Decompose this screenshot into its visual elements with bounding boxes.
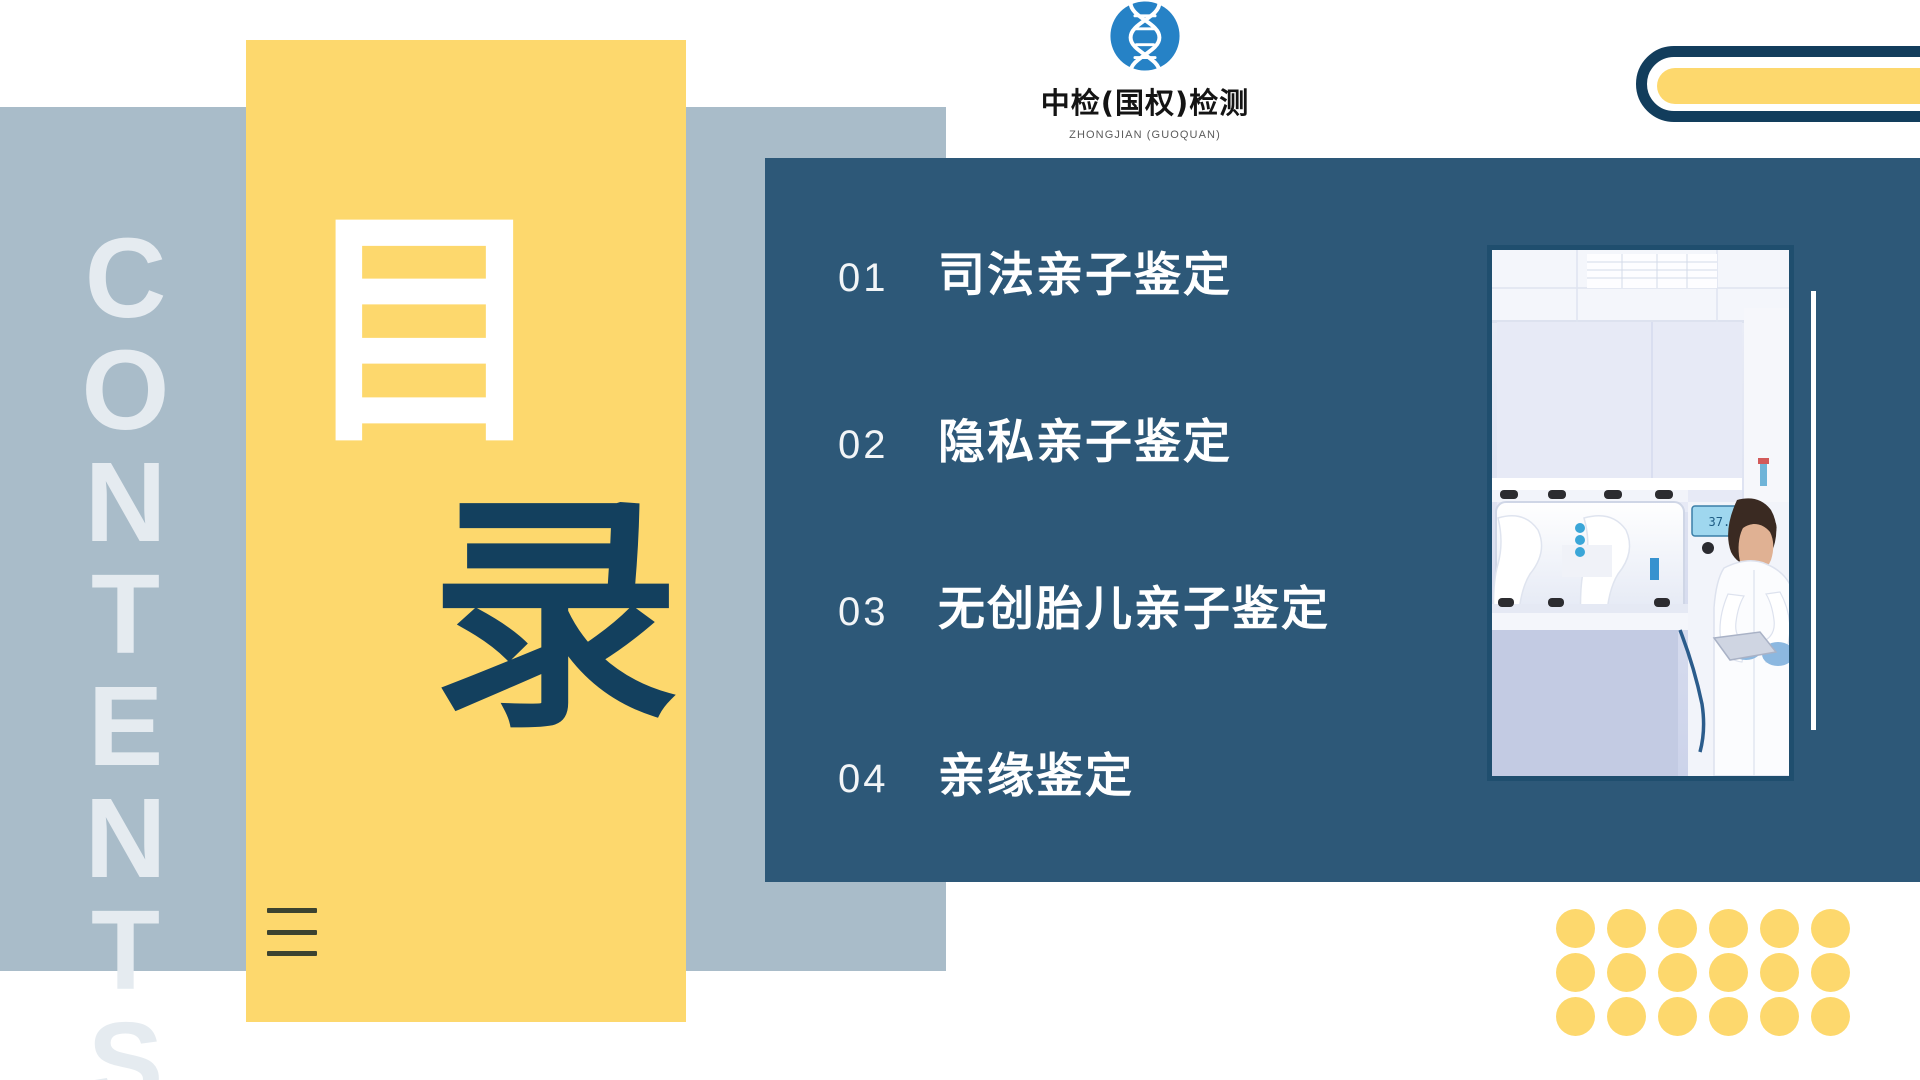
logo-company-pinyin: ZHONGJIAN (GUOQUAN) xyxy=(1069,129,1221,141)
hamburger-bar-3 xyxy=(267,951,317,956)
dot xyxy=(1658,909,1697,948)
toc-label: 隐私亲子鉴定 xyxy=(938,403,1232,472)
title-character-mu: 目 xyxy=(300,205,550,455)
dot xyxy=(1658,953,1697,992)
contents-vertical-label: CONTENTS xyxy=(70,215,180,855)
dot xyxy=(1760,997,1799,1036)
dot xyxy=(1811,953,1850,992)
dot xyxy=(1811,997,1850,1036)
title-character-lu: 录 xyxy=(430,490,680,740)
contents-text: CONTENTS xyxy=(69,215,182,1080)
toc-number: 02 xyxy=(838,423,938,468)
toc-label: 亲缘鉴定 xyxy=(938,737,1134,806)
dot xyxy=(1607,909,1646,948)
dot xyxy=(1556,997,1595,1036)
lab-photo-illustration: 37.3 xyxy=(1492,250,1789,776)
toc-number: 01 xyxy=(838,256,938,301)
dot-grid-decoration xyxy=(1556,909,1862,1041)
dot xyxy=(1709,997,1748,1036)
dot xyxy=(1709,909,1748,948)
hamburger-icon[interactable] xyxy=(267,908,317,956)
dot xyxy=(1658,997,1697,1036)
company-logo: 中检(国权)检测 ZHONGJIAN (GUOQUAN) xyxy=(1020,0,1270,170)
dot xyxy=(1607,953,1646,992)
toc-number: 03 xyxy=(838,590,938,635)
dot xyxy=(1760,953,1799,992)
accent-vertical-line xyxy=(1811,291,1816,730)
toc-label: 无创胎儿亲子鉴定 xyxy=(938,570,1330,639)
toc-number: 04 xyxy=(838,757,938,802)
list-item[interactable]: 01 司法亲子鉴定 xyxy=(838,236,1448,403)
dot xyxy=(1709,953,1748,992)
dna-helix-circle-icon xyxy=(1109,0,1181,72)
table-of-contents-list: 01 司法亲子鉴定 02 隐私亲子鉴定 03 无创胎儿亲子鉴定 04 亲缘鉴定 xyxy=(838,236,1448,904)
list-item[interactable]: 03 无创胎儿亲子鉴定 xyxy=(838,570,1448,737)
dot xyxy=(1760,909,1799,948)
logo-company-name: 中检(国权)检测 xyxy=(1041,80,1250,122)
dot xyxy=(1811,909,1850,948)
list-item[interactable]: 02 隐私亲子鉴定 xyxy=(838,403,1448,570)
pill-fill-decoration xyxy=(1657,68,1920,104)
dot xyxy=(1607,997,1646,1036)
hamburger-bar-1 xyxy=(267,908,317,913)
list-item[interactable]: 04 亲缘鉴定 xyxy=(838,737,1448,904)
lab-photo: 37.3 xyxy=(1487,245,1794,781)
toc-label: 司法亲子鉴定 xyxy=(938,236,1232,305)
hamburger-bar-2 xyxy=(267,930,317,935)
dot xyxy=(1556,909,1595,948)
slide-canvas: CONTENTS 目 录 中检(国权)检测 ZHONGJIAN (GUOQUAN… xyxy=(0,0,1920,1080)
dot xyxy=(1556,953,1595,992)
